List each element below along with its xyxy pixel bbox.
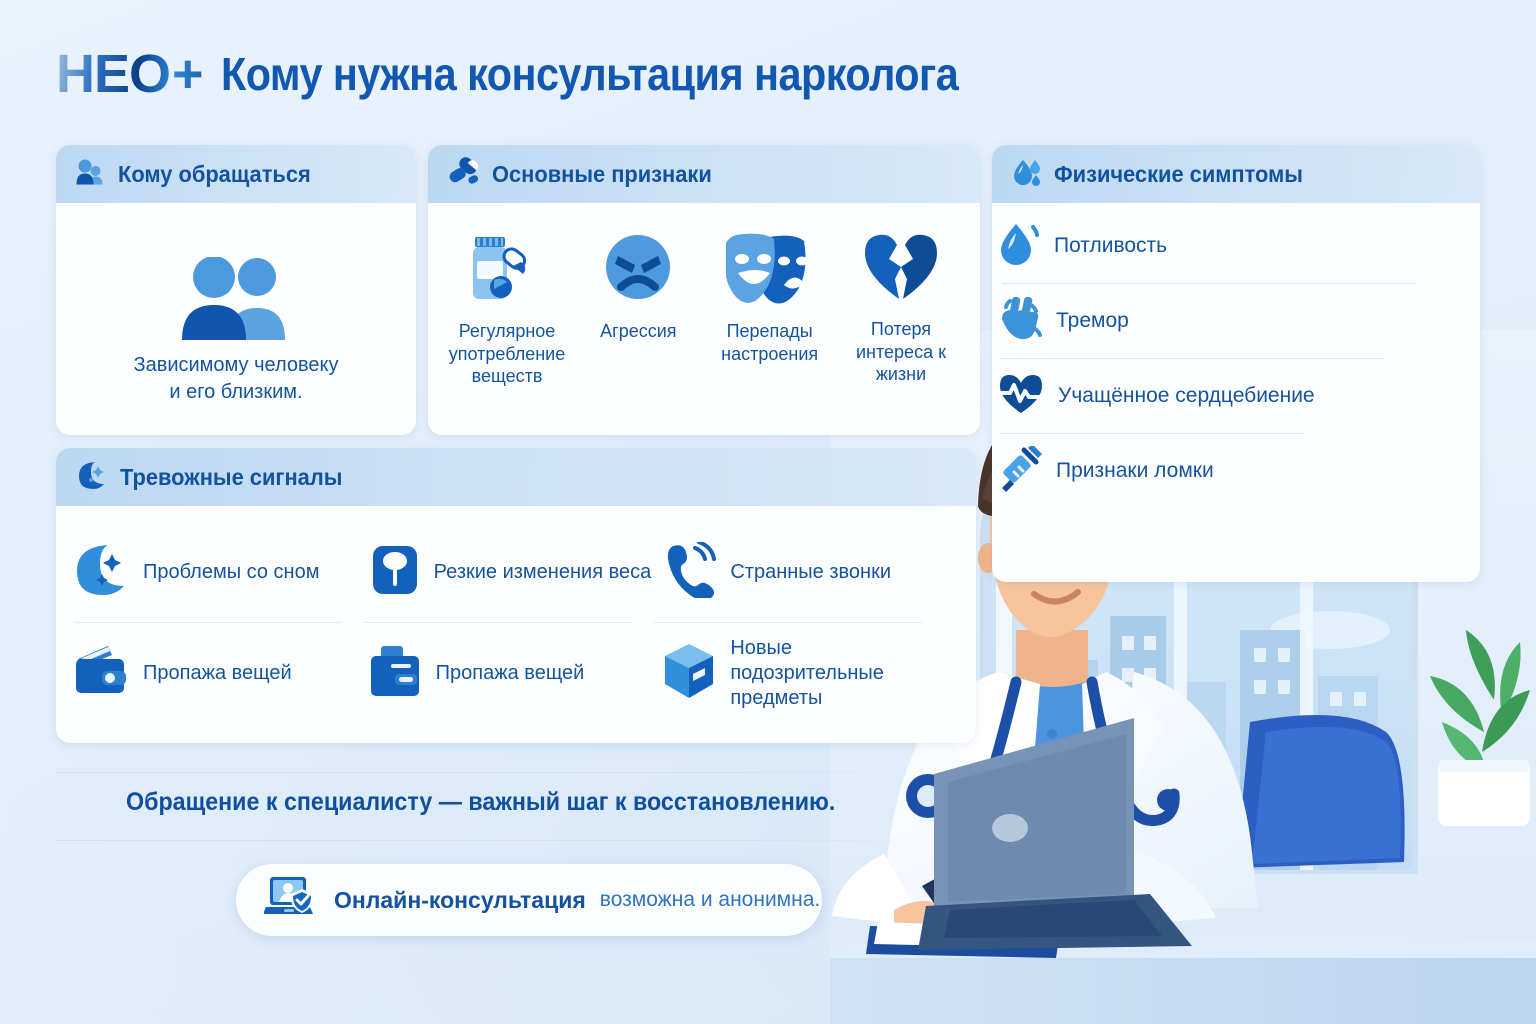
logo: НЕО +: [56, 47, 203, 101]
card-who-to-contact: Кому обращаться Зависимому человеку и ег…: [56, 145, 416, 435]
two-people-large-icon: [173, 257, 299, 346]
page-title: Кому нужна консультация нарколога: [221, 47, 958, 101]
page-header: НЕО + Кому нужна консультация нарколога: [56, 38, 1040, 110]
card-body: Зависимому человеку и его близким.: [56, 203, 416, 435]
bag-icon: [369, 644, 423, 703]
sign-label: Регулярное употребление веществ: [446, 320, 568, 388]
symptom-label: Признаки ломки: [1056, 458, 1214, 484]
theater-masks-icon: [726, 229, 814, 312]
symptom-row: Тремор: [998, 284, 1478, 358]
symptom-label: Потливость: [1054, 233, 1167, 259]
package-box-icon: [663, 642, 717, 705]
caption-line-1: Зависимому человеку: [134, 352, 339, 379]
alert-item: Пропажа вещей: [369, 623, 664, 723]
laptop-verified-consult-icon: [264, 875, 320, 926]
sign-item: Агрессия: [577, 229, 699, 343]
shaking-hand-icon: [998, 297, 1042, 346]
symptom-row: Потливость: [998, 209, 1478, 283]
pill-bottle-icon: [467, 229, 547, 312]
weight-scale-icon: [369, 542, 421, 603]
alert-item: Резкие изменения веса: [369, 522, 664, 622]
moon-stars-icon: [74, 542, 130, 603]
sign-item: Потеря интереса к жизни: [840, 229, 962, 386]
syringe-icon: [998, 446, 1042, 497]
moon-stars-icon: [76, 460, 108, 495]
heartbeat-icon: [998, 373, 1044, 420]
card-main-signs: Основные признаки: [428, 145, 980, 435]
alert-item: Проблемы со сном: [74, 522, 369, 622]
card-body: Потливость Тремор: [992, 203, 1480, 508]
card-title: Кому обращаться: [118, 161, 311, 188]
wallet-icon: [74, 645, 130, 702]
sign-label: Перепады настроения: [709, 320, 831, 365]
caption-line-2: и его близким.: [134, 379, 339, 406]
logo-plus-icon: +: [172, 47, 203, 101]
alerts-row: Пропажа вещей Пропажа вещ: [74, 623, 958, 723]
alerts-row: Проблемы со сном Резкие изменения веса: [74, 522, 958, 622]
blue-office-chair: [1236, 715, 1405, 868]
badge-subtitle: возможна и анонимна.: [600, 888, 820, 912]
card-header: Основные признаки: [428, 145, 980, 203]
footer-divider-top: [56, 772, 921, 773]
two-people-icon: [76, 159, 106, 190]
pills-capsule-icon: [448, 157, 480, 192]
signs-grid: Регулярное употребление веществ Агрессия: [446, 215, 962, 388]
broken-heart-icon: [861, 229, 941, 310]
alert-label: Странные звонки: [730, 560, 891, 585]
phone-ringing-icon: [663, 542, 717, 603]
symptom-row: Признаки ломки: [998, 434, 1478, 508]
angry-face-icon: [599, 229, 677, 312]
card-title: Тревожные сигналы: [120, 464, 342, 491]
water-drops-icon: [1012, 157, 1042, 192]
symptom-label: Тремор: [1056, 308, 1129, 334]
alert-label: Новые подозрительные предметы: [730, 636, 948, 711]
footer-statement: Обращение к специалисту — важный шаг к в…: [126, 788, 835, 817]
card-alert-signals: Тревожные сигналы Проблемы со сном: [56, 448, 976, 743]
alerts-grid: Проблемы со сном Резкие изменения веса: [74, 518, 958, 723]
card-title: Физические симптомы: [1054, 161, 1303, 188]
sign-label: Потеря интереса к жизни: [840, 318, 962, 386]
symptom-row: Учащённое сердцебиение: [998, 359, 1478, 433]
alert-label: Пропажа вещей: [436, 661, 585, 686]
alert-label: Проблемы со сном: [143, 560, 319, 585]
sign-item: Перепады настроения: [709, 229, 831, 365]
logo-text: НЕО: [56, 47, 170, 101]
water-drop-icon: [998, 221, 1040, 272]
card-title: Основные признаки: [492, 161, 712, 188]
badge-title: Онлайн-консультация: [334, 887, 586, 914]
alert-item: Пропажа вещей: [74, 623, 369, 723]
card-physical-symptoms: Физические симптомы Потливость: [992, 145, 1480, 582]
card-body: Проблемы со сном Резкие изменения веса: [56, 506, 976, 735]
card-body: Регулярное употребление веществ Агрессия: [428, 203, 980, 400]
alert-item: Новые подозрительные предметы: [663, 623, 958, 723]
infographic-canvas: НЕО + Кому нужна консультация нарколога …: [0, 0, 1536, 1024]
alert-label: Пропажа вещей: [143, 661, 292, 686]
online-consult-badge: Онлайн-консультация возможна и анонимна.: [236, 864, 822, 936]
card-header: Тревожные сигналы: [56, 448, 976, 506]
sign-item: Регулярное употребление веществ: [446, 229, 568, 388]
card-header: Физические симптомы: [992, 145, 1480, 203]
card-caption: Зависимому человеку и его близким.: [134, 352, 339, 406]
card-header: Кому обращаться: [56, 145, 416, 203]
symptom-label: Учащённое сердцебиение: [1058, 383, 1315, 409]
footer-divider-bottom: [56, 840, 921, 841]
sign-label: Агрессия: [600, 320, 676, 343]
alert-label: Резкие изменения веса: [434, 560, 652, 585]
alert-item: Странные звонки: [663, 522, 958, 622]
